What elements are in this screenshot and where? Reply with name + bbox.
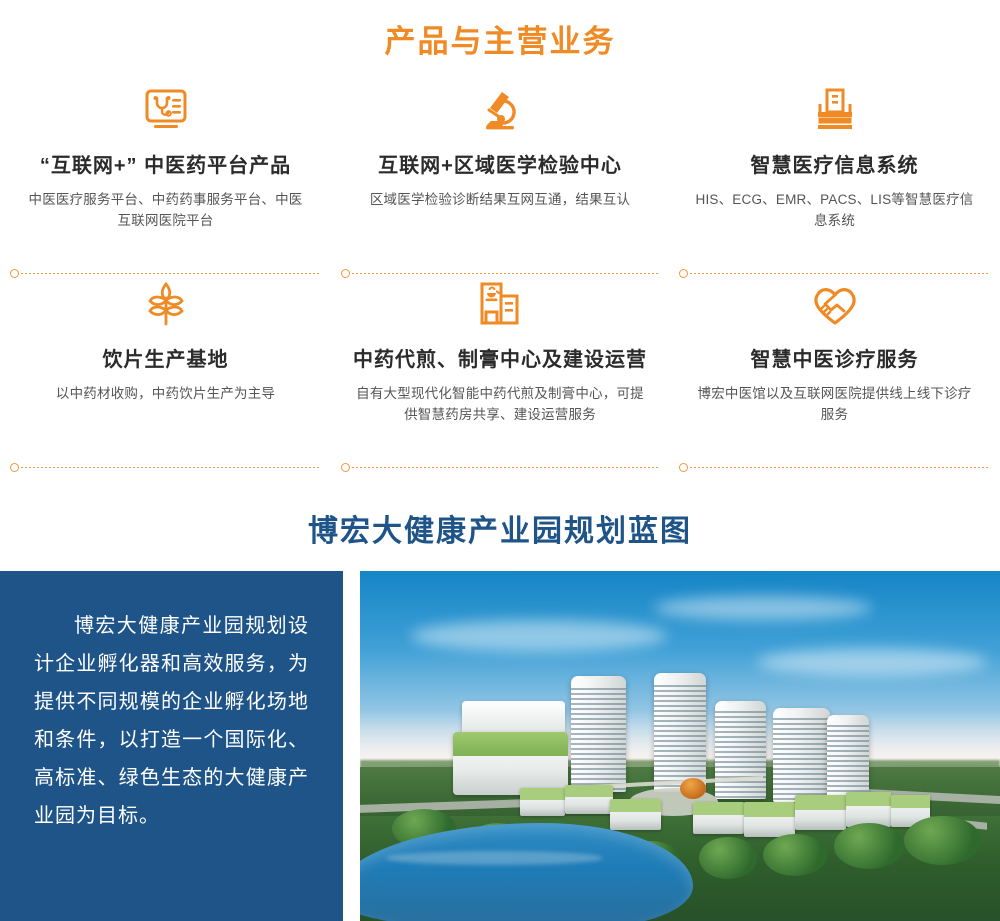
product-card-title: 中药代煎、制膏中心及建设运营 — [353, 346, 647, 374]
dotted-divider — [341, 269, 659, 278]
product-card-hospital-info-system[interactable]: 智慧医疗信息系统 HIS、ECG、EMR、PACS、LIS等智慧医疗信息系统 — [669, 84, 1000, 278]
tree-cluster — [904, 816, 981, 865]
handshake-heart-icon — [691, 278, 978, 330]
villa — [565, 785, 613, 815]
tree-cluster — [763, 834, 827, 876]
accent-tree — [680, 778, 706, 799]
blueprint-block: 博宏大健康产业园规划设计企业孵化器和高效服务，为提供不同规模的企业孵化场地和条件… — [0, 571, 1000, 921]
product-card-desc: 自有大型现代化智能中药代煎及制膏中心，可提供智慧药房共享、建设运营服务 — [355, 383, 645, 425]
product-card-tcm-clinic-service[interactable]: 智慧中医诊疗服务 博宏中医馆以及互联网医院提供线上线下诊疗服务 — [669, 278, 1000, 472]
microscope-icon — [353, 84, 647, 136]
page-root: 产品与主营业务 “互联网+” 中医药平台产品 中医医疗服务平台 — [0, 0, 1000, 900]
divider-knob-icon — [341, 463, 350, 472]
panel-photo-gap — [343, 571, 360, 921]
tree-cluster — [699, 837, 757, 879]
blueprint-paragraph: 博宏大健康产业园规划设计企业孵化器和高效服务，为提供不同规模的企业孵化场地和条件… — [34, 607, 309, 835]
villa — [610, 799, 661, 831]
product-card-internet-plus-tcm[interactable]: “互联网+” 中医药平台产品 中医医疗服务平台、中药药事服务平台、中医互联网医院… — [0, 84, 331, 278]
tower-d — [773, 708, 831, 803]
cloud — [654, 596, 872, 621]
divider-knob-icon — [341, 269, 350, 278]
villa — [846, 792, 891, 827]
divider-dots — [352, 467, 659, 468]
cloud — [757, 648, 987, 676]
product-card-title: 饮片生产基地 — [22, 346, 309, 374]
tower-a — [571, 676, 625, 792]
tower-c — [715, 701, 766, 799]
dotted-divider — [10, 463, 321, 472]
dotted-divider — [679, 463, 990, 472]
products-grid: “互联网+” 中医药平台产品 中医医疗服务平台、中药药事服务平台、中医互联网医院… — [0, 84, 1000, 472]
divider-knob-icon — [679, 269, 688, 278]
cloud — [411, 620, 667, 652]
dotted-divider — [10, 269, 321, 278]
products-section-title: 产品与主营业务 — [0, 0, 1000, 64]
lake-reflection — [386, 851, 604, 865]
divider-dots — [21, 467, 321, 468]
dotted-divider — [341, 463, 659, 472]
product-card-decoction-center[interactable]: 中药代煎、制膏中心及建设运营 自有大型现代化智能中药代煎及制膏中心，可提供智慧药… — [331, 278, 669, 472]
blueprint-section-title: 博宏大健康产业园规划蓝图 — [0, 510, 1000, 554]
hospital-block — [453, 732, 568, 795]
industrial-park-rendering — [360, 571, 1000, 921]
product-card-title: “互联网+” 中医药平台产品 — [22, 152, 309, 180]
tree-cluster — [834, 823, 904, 869]
villa — [693, 802, 744, 834]
building-teapot-icon — [353, 278, 647, 330]
monitor-stethoscope-icon — [22, 84, 309, 136]
dotted-divider — [679, 269, 990, 278]
divider-dots — [690, 273, 990, 274]
product-card-desc: 以中药材收购，中药饮片生产为主导 — [22, 383, 309, 404]
villa — [520, 788, 565, 816]
tower-e — [827, 715, 869, 803]
divider-knob-icon — [10, 269, 19, 278]
product-card-desc: 中医医疗服务平台、中药药事服务平台、中医互联网医院平台 — [22, 189, 309, 231]
tower-b — [654, 673, 705, 792]
product-card-title: 互联网+区域医学检验中心 — [353, 152, 647, 180]
divider-dots — [690, 467, 990, 468]
divider-knob-icon — [10, 463, 19, 472]
product-card-desc: 博宏中医馆以及互联网医院提供线上线下诊疗服务 — [691, 383, 978, 425]
product-card-desc: HIS、ECG、EMR、PACS、LIS等智慧医疗信息系统 — [691, 189, 978, 231]
villa — [795, 795, 846, 830]
product-card-title: 智慧中医诊疗服务 — [691, 346, 978, 374]
villa — [744, 802, 795, 837]
divider-dots — [21, 273, 321, 274]
product-card-desc: 区域医学检验诊断结果互网互通，结果互认 — [355, 189, 645, 210]
product-card-lab-center[interactable]: 互联网+区域医学检验中心 区域医学检验诊断结果互网互通，结果互认 — [331, 84, 669, 278]
product-card-title: 智慧医疗信息系统 — [691, 152, 978, 180]
server-document-icon — [691, 84, 978, 136]
wheat-icon — [22, 278, 309, 330]
blueprint-text-panel: 博宏大健康产业园规划设计企业孵化器和高效服务，为提供不同规模的企业孵化场地和条件… — [0, 571, 343, 921]
divider-knob-icon — [679, 463, 688, 472]
divider-dots — [352, 273, 659, 274]
product-card-decoction-pieces-base[interactable]: 饮片生产基地 以中药材收购，中药饮片生产为主导 — [0, 278, 331, 472]
